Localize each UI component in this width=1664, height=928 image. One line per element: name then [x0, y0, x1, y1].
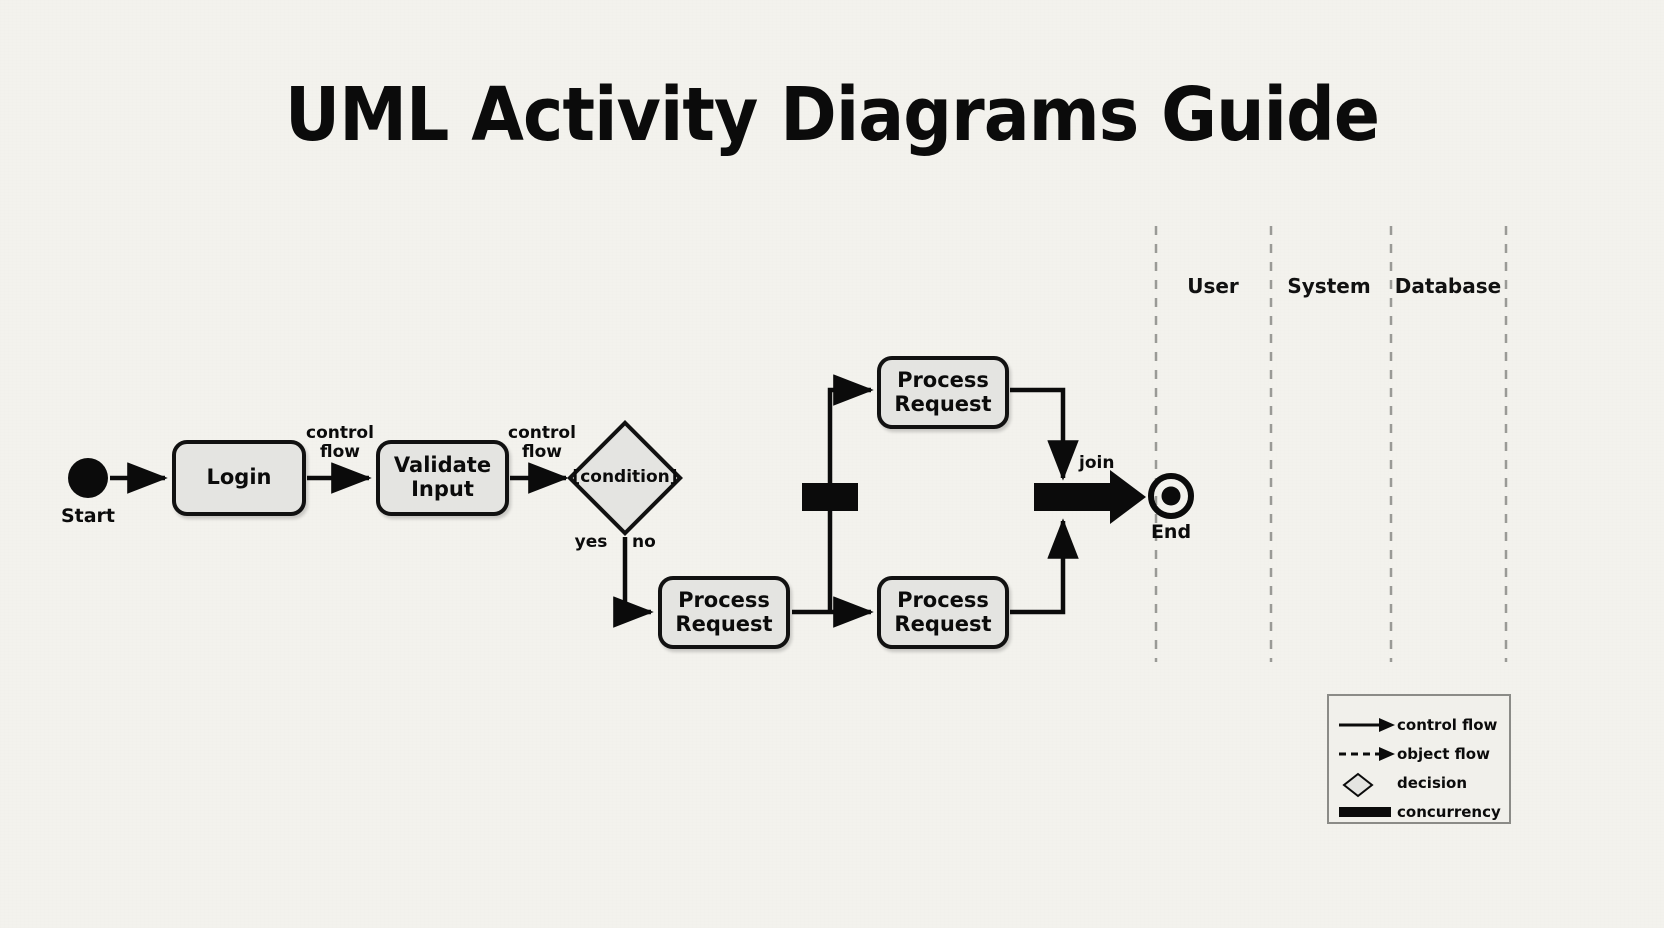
- legend-label-object-flow: object flow: [1397, 745, 1490, 763]
- diagram-canvas: UML Activity Diagrams Guide User System …: [0, 0, 1664, 928]
- legend-label-concurrency: concurrency: [1397, 803, 1501, 821]
- legend-item-object-flow: object flow: [1329, 739, 1513, 768]
- diamond-icon: [1335, 772, 1397, 794]
- legend-item-decision: decision: [1329, 768, 1513, 797]
- end-node-inner-dot: [1162, 487, 1181, 506]
- thick-bar-icon: [1335, 801, 1397, 823]
- end-node-label: End: [1121, 521, 1221, 543]
- legend-panel: control flow object flow decision: [1327, 694, 1511, 824]
- legend-item-control-flow: control flow: [1329, 710, 1513, 739]
- legend-label-decision: decision: [1397, 774, 1467, 792]
- legend-item-concurrency: concurrency: [1329, 797, 1513, 826]
- solid-arrow-icon: [1335, 714, 1397, 736]
- legend-label-control-flow: control flow: [1397, 716, 1497, 734]
- dashed-arrow-icon: [1335, 743, 1397, 765]
